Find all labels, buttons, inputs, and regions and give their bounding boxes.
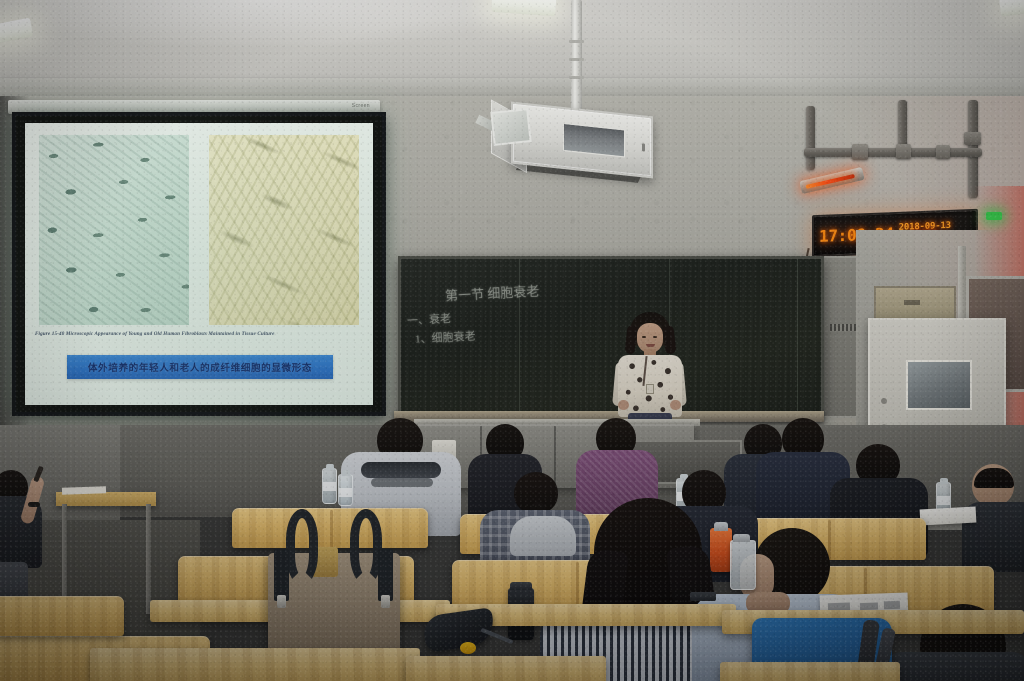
left-desk-leg-2 bbox=[146, 504, 151, 614]
projector-lens-window bbox=[563, 123, 625, 158]
bottle-label bbox=[937, 496, 950, 505]
classroom-photo: Screen Figure 15-40 Microscopic Appearan… bbox=[0, 0, 1024, 681]
door-window bbox=[906, 360, 972, 410]
bottle-cap bbox=[940, 478, 948, 484]
pipe-horizontal bbox=[804, 148, 982, 157]
handbag-strap-left bbox=[274, 549, 289, 601]
lecturer-hand-left bbox=[618, 400, 629, 410]
hoodie-stripe-2 bbox=[371, 478, 433, 487]
pipe-joint-d bbox=[964, 132, 981, 145]
thermos-black-cap bbox=[510, 582, 532, 590]
lecturer-mouth bbox=[646, 344, 655, 347]
projection-screen: Figure 15-40 Microscopic Appearance of Y… bbox=[12, 112, 386, 416]
blackboard-seam-left bbox=[519, 259, 520, 417]
thermos-clear[interactable] bbox=[730, 540, 756, 590]
bottle-label bbox=[323, 482, 336, 491]
wristwatch bbox=[28, 502, 40, 507]
chalk-line-1: 第一节 细胞衰老 bbox=[445, 281, 540, 305]
lecturer bbox=[604, 312, 694, 428]
seat-divider bbox=[330, 510, 333, 548]
bottle-label bbox=[339, 488, 352, 497]
seat-row-1-far-left[interactable] bbox=[0, 596, 124, 636]
pipe-joint-a bbox=[852, 144, 868, 160]
lecturer-eye-left bbox=[642, 336, 646, 338]
exit-indicator-light bbox=[986, 212, 1002, 220]
slide-chinese-caption-bar: 体外培养的年轻人和老人的成纤维细胞的显微形态 bbox=[67, 355, 333, 379]
papers[interactable] bbox=[920, 507, 977, 526]
projector-pole-ring-3 bbox=[569, 76, 584, 79]
lecturer-eye-right bbox=[653, 336, 657, 338]
paper-mark-2 bbox=[860, 603, 878, 611]
projector-cage-latch bbox=[642, 143, 645, 151]
paper-mark-3 bbox=[884, 601, 900, 610]
pipe-joint-b bbox=[896, 144, 911, 159]
figure-caption: Figure 15-40 Microscopic Appearance of Y… bbox=[35, 331, 365, 337]
chalk-line-2: 一、衰老 bbox=[407, 310, 452, 328]
lecturer-hair-right bbox=[662, 325, 676, 354]
projector-pole-ring-1 bbox=[569, 40, 584, 43]
handbag-buckle-left bbox=[277, 595, 286, 608]
water-bottle[interactable] bbox=[322, 468, 337, 504]
pipe-vertical-left bbox=[806, 106, 815, 170]
door-lock-icon[interactable] bbox=[881, 398, 887, 404]
projector-pole-ring-2 bbox=[569, 58, 584, 61]
chalk-line-3: 1、细胞衰老 bbox=[415, 327, 476, 346]
umbrella[interactable] bbox=[424, 612, 512, 658]
screen-brand-label: Screen bbox=[352, 103, 370, 109]
slide-content: Figure 15-40 Microscopic Appearance of Y… bbox=[25, 123, 373, 405]
projector-pole bbox=[571, 0, 582, 112]
blackboard-seam-right bbox=[797, 259, 798, 417]
desk-row-1-left[interactable] bbox=[90, 648, 420, 681]
slide-chinese-caption: 体外培养的年轻人和老人的成纤维细胞的显微形态 bbox=[88, 360, 312, 374]
bottle-cap bbox=[326, 464, 334, 470]
wall-window bbox=[490, 108, 531, 146]
handbag[interactable] bbox=[268, 553, 400, 657]
water-bottle[interactable] bbox=[338, 474, 353, 506]
pipe-joint-c bbox=[936, 145, 950, 159]
thermos-clear-cap bbox=[733, 534, 750, 542]
bottle-cap bbox=[342, 470, 350, 476]
handbag-handle-left[interactable] bbox=[286, 509, 318, 585]
phone[interactable] bbox=[690, 592, 716, 601]
desk-row-1-mid[interactable] bbox=[406, 656, 606, 681]
student-left-desk bbox=[0, 452, 66, 602]
hatch-label-plate bbox=[904, 300, 920, 305]
umbrella-handle bbox=[460, 642, 476, 654]
lecturer-hand-right bbox=[670, 400, 681, 410]
handbag-buckle-right bbox=[381, 595, 390, 608]
handbag-strap-right bbox=[378, 549, 393, 601]
hoodie-collar-stripe bbox=[361, 462, 441, 478]
desk-row-1-right[interactable] bbox=[720, 662, 900, 681]
lecturer-id-badge bbox=[646, 384, 654, 394]
student-top bbox=[884, 652, 1024, 681]
young-fibroblasts-micrograph bbox=[39, 135, 189, 325]
lecturer-hair-left bbox=[625, 326, 638, 355]
old-fibroblasts-micrograph bbox=[209, 135, 359, 325]
student-hair bbox=[974, 468, 1014, 488]
